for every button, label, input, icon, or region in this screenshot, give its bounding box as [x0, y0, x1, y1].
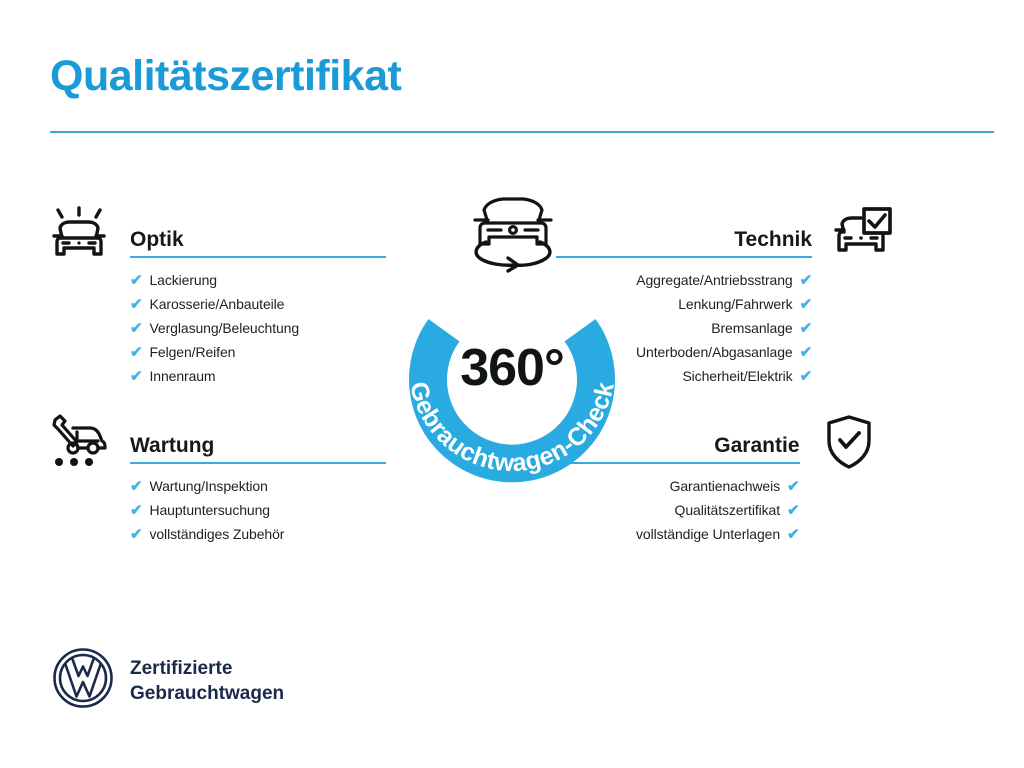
vw-line-2: Gebrauchtwagen: [130, 681, 284, 706]
list-item: ✔Wartung/Inspektion: [130, 474, 284, 498]
section-underline-optik: [130, 256, 386, 259]
list-item: ✔Verglasung/Beleuchtung: [130, 316, 299, 340]
section-title-technik: Technik: [734, 228, 812, 252]
check-icon: ✔: [130, 297, 142, 312]
wrench-car-icon: [46, 412, 112, 472]
car-checkbox-icon: [828, 206, 894, 266]
checklist-garantie: Garantienachweis✔ Qualitätszertifikat✔ v…: [636, 474, 800, 546]
car-front-rotate-icon: [461, 194, 565, 276]
volkswagen-wordmark: Zertifizierte Gebrauchtwagen: [130, 656, 284, 706]
check-icon: ✔: [130, 503, 142, 518]
list-item: vollständige Unterlagen✔: [636, 522, 800, 546]
list-item-label: Innenraum: [149, 368, 215, 384]
checklist-technik: Aggregate/Antriebsstrang✔ Lenkung/Fahrwe…: [636, 268, 812, 388]
check-icon: ✔: [130, 321, 142, 336]
page-title: Qualitätszertifikat: [50, 52, 401, 101]
check-icon: ✔: [800, 369, 812, 384]
checklist-optik: ✔Lackierung ✔Karosserie/Anbauteile ✔Verg…: [130, 268, 299, 388]
section-header-garantie: Garantie: [636, 412, 882, 474]
list-item-label: Verglasung/Beleuchtung: [149, 320, 299, 336]
list-item-label: Felgen/Reifen: [149, 344, 235, 360]
list-item-label: Garantienachweis: [670, 478, 780, 494]
list-item-label: vollständiges Zubehör: [149, 526, 284, 542]
list-item-label: Unterboden/Abgasanlage: [636, 344, 793, 360]
check-icon: ✔: [130, 527, 142, 542]
title-divider: [50, 131, 994, 133]
list-item-label: Qualitätszertifikat: [675, 502, 780, 518]
check-icon: ✔: [787, 479, 799, 494]
section-header-optik: Optik: [46, 206, 299, 268]
list-item: Garantienachweis✔: [636, 474, 800, 498]
section-garantie: Garantie Garantienachweis✔ Qualitätszert…: [636, 412, 882, 546]
list-item-label: vollständige Unterlagen: [636, 526, 780, 542]
badge-number: 360°: [378, 338, 646, 398]
list-item: ✔vollständiges Zubehör: [130, 522, 284, 546]
section-wartung: Wartung ✔Wartung/Inspektion ✔Hauptunters…: [46, 412, 284, 546]
section-underline-wartung: [130, 462, 386, 465]
section-header-wartung: Wartung: [46, 412, 284, 474]
check-icon: ✔: [800, 321, 812, 336]
car-shine-icon: [46, 206, 112, 266]
section-title-garantie: Garantie: [714, 434, 799, 458]
list-item-label: Bremsanlage: [711, 320, 792, 336]
check-icon: ✔: [130, 345, 142, 360]
checklist-wartung: ✔Wartung/Inspektion ✔Hauptuntersuchung ✔…: [130, 474, 284, 546]
list-item-label: Lenkung/Fahrwerk: [678, 296, 792, 312]
list-item: Unterboden/Abgasanlage✔: [636, 340, 812, 364]
check-icon: ✔: [787, 527, 799, 542]
list-item-label: Lackierung: [149, 272, 217, 288]
check-icon: ✔: [800, 345, 812, 360]
list-item-label: Aggregate/Antriebsstrang: [636, 272, 792, 288]
list-item: ✔Hauptuntersuchung: [130, 498, 284, 522]
list-item: Bremsanlage✔: [636, 316, 812, 340]
list-item-label: Karosserie/Anbauteile: [149, 296, 284, 312]
badge-360-gebrauchtwagen-check: Gebrauchtwagen-Check 360°: [378, 256, 646, 488]
list-item: ✔Innenraum: [130, 364, 299, 388]
check-icon: ✔: [130, 479, 142, 494]
shield-check-icon: [816, 412, 882, 472]
certificate-page: Qualitätszertifikat Optik: [0, 0, 1024, 768]
section-optik: Optik ✔Lackierung ✔Karosserie/Anbauteile…: [46, 206, 299, 388]
list-item: Qualitätszertifikat✔: [636, 498, 800, 522]
list-item: ✔Lackierung: [130, 268, 299, 292]
check-icon: ✔: [800, 297, 812, 312]
list-item-label: Sicherheit/Elektrik: [682, 368, 792, 384]
check-icon: ✔: [787, 503, 799, 518]
section-title-optik: Optik: [130, 228, 184, 252]
check-icon: ✔: [130, 369, 142, 384]
check-icon: ✔: [800, 273, 812, 288]
section-header-technik: Technik: [636, 206, 894, 268]
list-item-label: Hauptuntersuchung: [149, 502, 270, 518]
list-item: Sicherheit/Elektrik✔: [636, 364, 812, 388]
list-item: ✔Karosserie/Anbauteile: [130, 292, 299, 316]
volkswagen-logo: [52, 647, 114, 709]
list-item-label: Wartung/Inspektion: [149, 478, 267, 494]
section-technik: Technik Aggregate/Antriebsstrang✔ Lenkun…: [636, 206, 894, 388]
list-item: Aggregate/Antriebsstrang✔: [636, 268, 812, 292]
check-icon: ✔: [130, 273, 142, 288]
list-item: ✔Felgen/Reifen: [130, 340, 299, 364]
section-title-wartung: Wartung: [130, 434, 214, 458]
list-item: Lenkung/Fahrwerk✔: [636, 292, 812, 316]
vw-line-1: Zertifizierte: [130, 656, 284, 681]
